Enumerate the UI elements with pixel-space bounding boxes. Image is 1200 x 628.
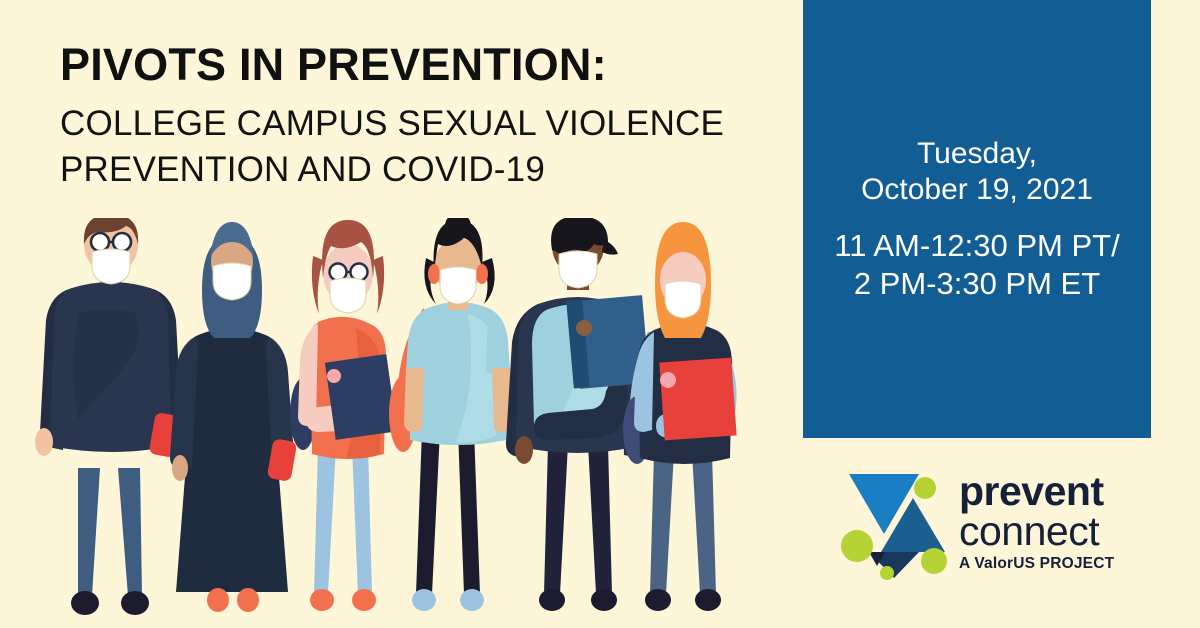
triangles-and-dots-logo-icon [841,468,953,580]
page-subtitle-line1: COLLEGE CAMPUS SEXUAL VIOLENCE [60,101,790,147]
page-subtitle-line2: PREVENTION AND COVID-19 [60,147,790,193]
poster-canvas: PIVOTS IN PREVENTION: COLLEGE CAMPUS SEX… [0,0,1200,628]
event-info-panel: Tuesday, October 19, 2021 11 AM-12:30 PM… [803,0,1151,438]
figure-1 [35,218,182,615]
figure-2 [170,222,297,612]
logo-tagline: A ValorUS PROJECT [959,555,1129,573]
event-time-line1: 11 AM-12:30 PM PT/ [834,227,1119,265]
preventconnect-logo: prevent connect A ValorUS PROJECT [841,468,1121,586]
six-masked-students-illustration [0,218,800,628]
event-date: Tuesday, October 19, 2021 [861,136,1093,209]
figure-6 [623,222,737,611]
event-time: 11 AM-12:30 PM PT/ 2 PM-3:30 PM ET [834,227,1119,303]
event-date-line1: Tuesday, [861,136,1093,173]
page-title: PIVOTS IN PREVENTION: [60,42,790,87]
figure-4 [389,218,512,611]
page-subtitle: COLLEGE CAMPUS SEXUAL VIOLENCE PREVENTIO… [60,101,790,193]
wordmark-connect: connect [959,511,1129,551]
figure-3 [290,220,397,611]
event-date-line2: October 19, 2021 [861,172,1093,209]
title-block: PIVOTS IN PREVENTION: COLLEGE CAMPUS SEX… [60,42,790,193]
wordmark-prevent: prevent [959,472,1129,511]
logo-wordmark: prevent connect A ValorUS PROJECT [959,472,1129,573]
event-time-line2: 2 PM-3:30 PM ET [834,265,1119,303]
